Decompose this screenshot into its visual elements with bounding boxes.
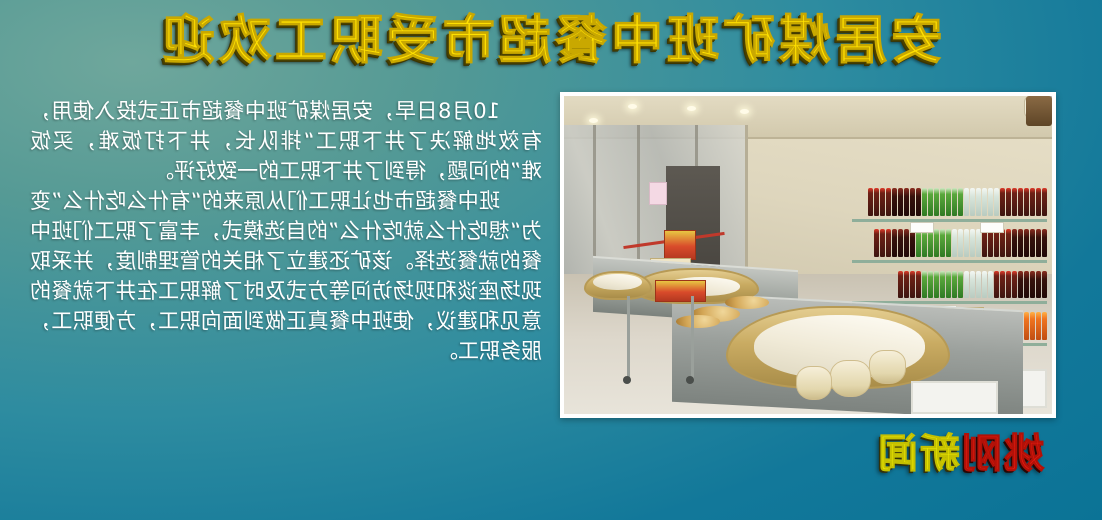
news-poster: 安居煤矿班中餐超市受职工欢迎 xyxy=(0,0,1102,520)
footer-section-label: 新闻 xyxy=(876,431,960,477)
photo-carton-box xyxy=(655,280,706,301)
footer-byline: 姚刚 xyxy=(960,431,1044,477)
photo-bread-roll xyxy=(869,350,905,384)
photo-cart-wheel xyxy=(686,376,694,384)
shelf-price-tag xyxy=(980,222,1004,233)
news-photo xyxy=(564,96,1052,414)
article-paragraph: 班中餐超市也让职工们从原来的“有什么吃什么”变为“想吃什么就吃什么”的自选模式，… xyxy=(30,186,542,366)
photo-food-cloth xyxy=(593,274,642,290)
photo-frame xyxy=(560,92,1056,418)
photo-cart-leg xyxy=(691,296,694,379)
photo-carton-box xyxy=(665,230,696,261)
shelf-price-tag xyxy=(910,222,934,233)
ceiling-light-icon xyxy=(740,109,749,114)
photo-cart-leg xyxy=(627,296,630,379)
photo-bread-roll xyxy=(796,366,832,400)
photo-wall-notice xyxy=(649,182,667,205)
article-body: 10月8日早，安居煤矿班中餐超市正式投入使用，有效地解决了井下职工“排队长，井下… xyxy=(30,96,542,366)
page-title: 安居煤矿班中餐超市受职工欢迎 xyxy=(0,8,1102,74)
photo-tray-crate xyxy=(911,381,998,414)
article-paragraph: 10月8日早，安居煤矿班中餐超市正式投入使用，有效地解决了井下职工“排队长，井下… xyxy=(30,96,542,186)
photo-bread-roll xyxy=(830,360,871,397)
ceiling-light-icon xyxy=(687,106,696,111)
footer-stamp: 姚刚新闻 xyxy=(876,428,1044,480)
photo-cart-wheel xyxy=(623,376,631,384)
